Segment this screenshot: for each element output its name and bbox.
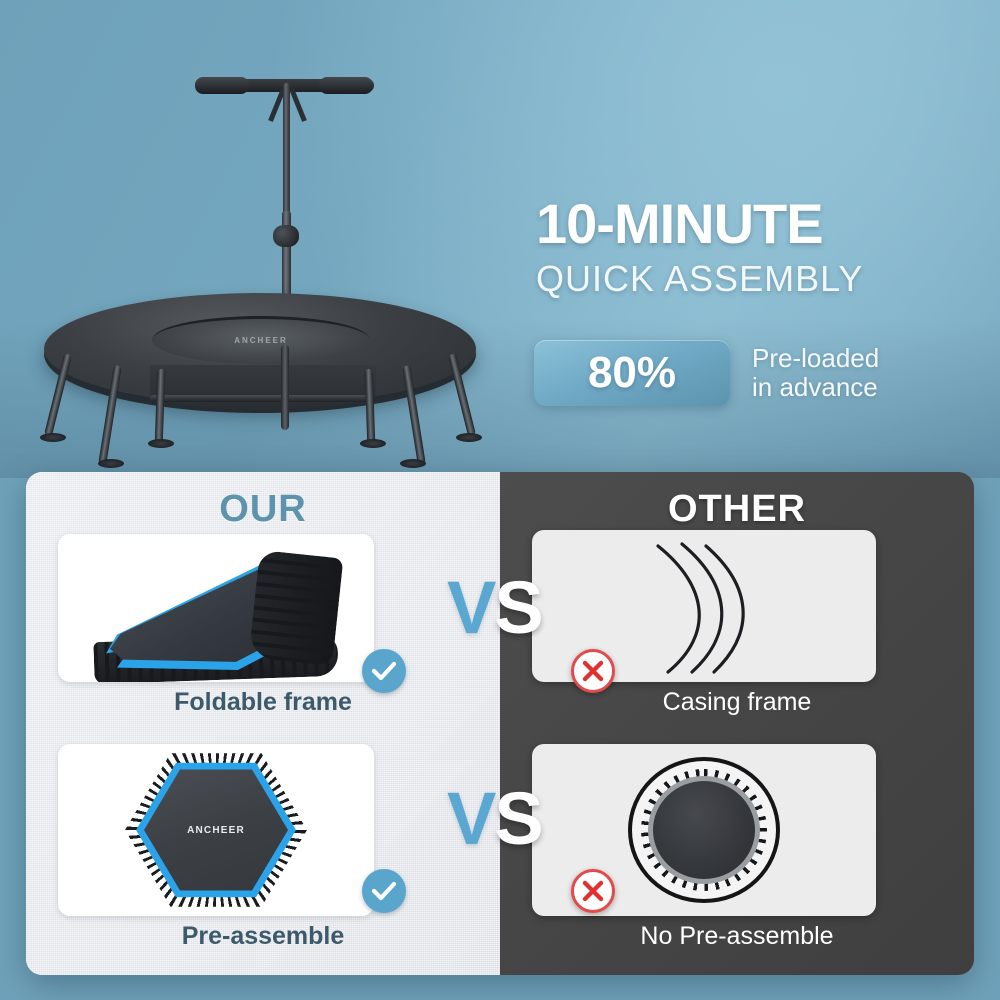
pad-skirt xyxy=(150,365,376,409)
foldable-frame-illustration xyxy=(58,534,374,682)
pole-adjust-knob xyxy=(273,225,299,247)
vs-letter-s: S xyxy=(494,777,541,860)
badge-note: Pre-loaded in advance xyxy=(752,344,879,402)
vs-letter-v: V xyxy=(447,566,494,649)
hero-section: ANCHEER 10-MINUTE QUICK ASSEMBLY 80% Pre… xyxy=(0,0,1000,478)
check-icon-foldable-frame xyxy=(362,649,406,693)
cross-glyph xyxy=(582,660,604,682)
hex-brand-text: ANCHEER xyxy=(187,825,245,836)
label-foldable-frame: Foldable frame xyxy=(26,688,500,717)
hero-headline: 10-MINUTE QUICK ASSEMBLY xyxy=(536,196,956,298)
panel-title-our: OUR xyxy=(26,488,500,531)
comparison-panel-our: OUR Foldable frame ANCHEER Pre-as xyxy=(26,472,500,975)
round-outer-ring xyxy=(628,757,780,903)
center-support-leg xyxy=(281,345,289,430)
percent-badge: 80% xyxy=(534,340,730,406)
frame-rail-side xyxy=(249,550,344,666)
check-glyph xyxy=(372,661,396,681)
handlebar-stem-right xyxy=(289,89,306,122)
product-image-trampoline: ANCHEER xyxy=(30,35,490,465)
percent-value: 80% xyxy=(588,348,676,398)
leg-3 xyxy=(155,369,166,445)
foot-2 xyxy=(98,459,124,468)
vs-badge-row-2: VS xyxy=(447,782,542,856)
cross-icon-casing-frame xyxy=(571,649,615,693)
check-icon-pre-assemble xyxy=(362,869,406,913)
panel-title-other: OTHER xyxy=(500,488,974,531)
badge-note-line1: Pre-loaded xyxy=(752,344,879,373)
label-casing-frame: Casing frame xyxy=(500,688,974,717)
badge-note-line2: in advance xyxy=(752,373,879,402)
foot-1 xyxy=(40,433,66,442)
foot-5 xyxy=(400,459,426,468)
comparison-panel-other: OTHER Casing frame No Pre-assemble xyxy=(500,472,974,975)
handlebar-grip-left xyxy=(195,77,249,94)
handlebar-grip-right xyxy=(319,77,373,94)
headline-sub: QUICK ASSEMBLY xyxy=(536,260,956,298)
vs-letter-s: S xyxy=(494,566,541,649)
support-crossbar xyxy=(150,395,374,402)
round-mat xyxy=(653,781,755,879)
vs-letter-v: V xyxy=(447,777,494,860)
hex-spring-ring: ANCHEER xyxy=(125,750,307,910)
card-foldable-frame[interactable] xyxy=(58,534,374,682)
mat-brand-text: ANCHEER xyxy=(152,336,370,345)
cross-icon-no-pre-assemble xyxy=(571,869,615,913)
label-pre-assemble: Pre-assemble xyxy=(26,922,500,951)
foot-6 xyxy=(456,433,482,442)
headline-main: 10-MINUTE xyxy=(536,196,956,252)
cross-glyph xyxy=(582,880,604,902)
preloaded-badge-row: 80% Pre-loaded in advance xyxy=(534,340,879,406)
check-glyph xyxy=(372,881,396,901)
hexagon-trampoline-illustration: ANCHEER xyxy=(58,744,374,916)
label-no-pre-assemble: No Pre-assemble xyxy=(500,922,974,951)
comparison-section: OUR Foldable frame ANCHEER Pre-as xyxy=(26,472,974,975)
foot-4 xyxy=(360,439,386,448)
foot-3 xyxy=(148,439,174,448)
jump-mat: ANCHEER xyxy=(152,316,370,364)
card-pre-assemble[interactable]: ANCHEER xyxy=(58,744,374,916)
vs-badge-row-1: VS xyxy=(447,571,542,645)
